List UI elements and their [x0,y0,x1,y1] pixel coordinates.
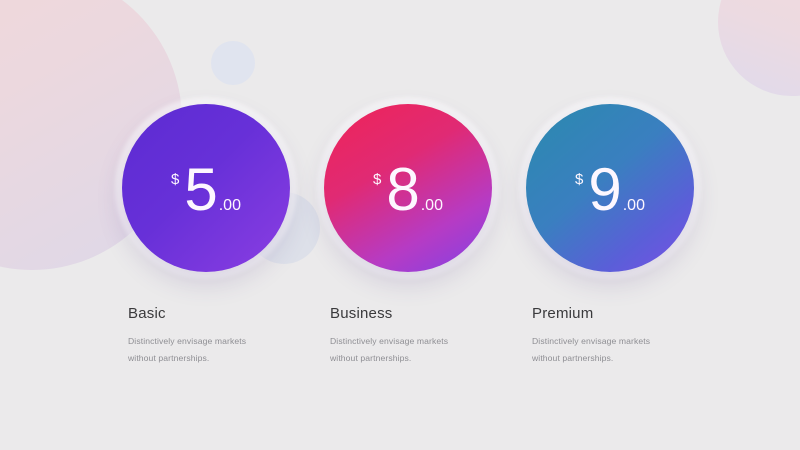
price-circle-fill-premium: $ 9 .00 [526,104,694,272]
price-circle-business[interactable]: $ 8 .00 [324,104,492,272]
price-cents: .00 [219,198,241,214]
plan-description-business: Distinctively envisage markets without p… [330,333,525,367]
price-display-premium: $ 9 .00 [575,160,645,220]
price-amount: 8 [386,160,418,220]
plan-title-business: Business [330,305,525,322]
plan-info-premium: Premium Distinctively envisage markets w… [517,305,727,367]
plan-description-line-2: without partnerships. [128,350,323,367]
price-cents: .00 [623,198,645,214]
plan-description-basic: Distinctively envisage markets without p… [128,333,323,367]
currency-symbol: $ [373,172,381,187]
pricing-card-business[interactable]: $ 8 .00 Business Distinctively envisage … [315,104,525,367]
price-amount: 5 [184,160,216,220]
price-amount: 9 [588,160,620,220]
pricing-card-basic[interactable]: $ 5 .00 Basic Distinctively envisage mar… [113,104,323,367]
plan-description-line-1: Distinctively envisage markets [330,333,525,350]
plan-description-line-1: Distinctively envisage markets [532,333,727,350]
pricing-card-premium[interactable]: $ 9 .00 Premium Distinctively envisage m… [517,104,727,367]
plan-description-line-1: Distinctively envisage markets [128,333,323,350]
price-display-basic: $ 5 .00 [171,160,241,220]
price-circle-premium[interactable]: $ 9 .00 [526,104,694,272]
price-circle-fill-basic: $ 5 .00 [122,104,290,272]
currency-symbol: $ [575,172,583,187]
plan-title-premium: Premium [532,305,727,322]
plan-description-line-2: without partnerships. [532,350,727,367]
price-circle-basic[interactable]: $ 5 .00 [122,104,290,272]
pricing-card-group: $ 5 .00 Basic Distinctively envisage mar… [0,0,800,450]
price-circle-fill-business: $ 8 .00 [324,104,492,272]
plan-title-basic: Basic [128,305,323,322]
plan-description-premium: Distinctively envisage markets without p… [532,333,727,367]
plan-info-business: Business Distinctively envisage markets … [315,305,525,367]
price-cents: .00 [421,198,443,214]
plan-description-line-2: without partnerships. [330,350,525,367]
price-display-business: $ 8 .00 [373,160,443,220]
currency-symbol: $ [171,172,179,187]
pricing-slide: $ 5 .00 Basic Distinctively envisage mar… [0,0,800,450]
plan-info-basic: Basic Distinctively envisage markets wit… [113,305,323,367]
